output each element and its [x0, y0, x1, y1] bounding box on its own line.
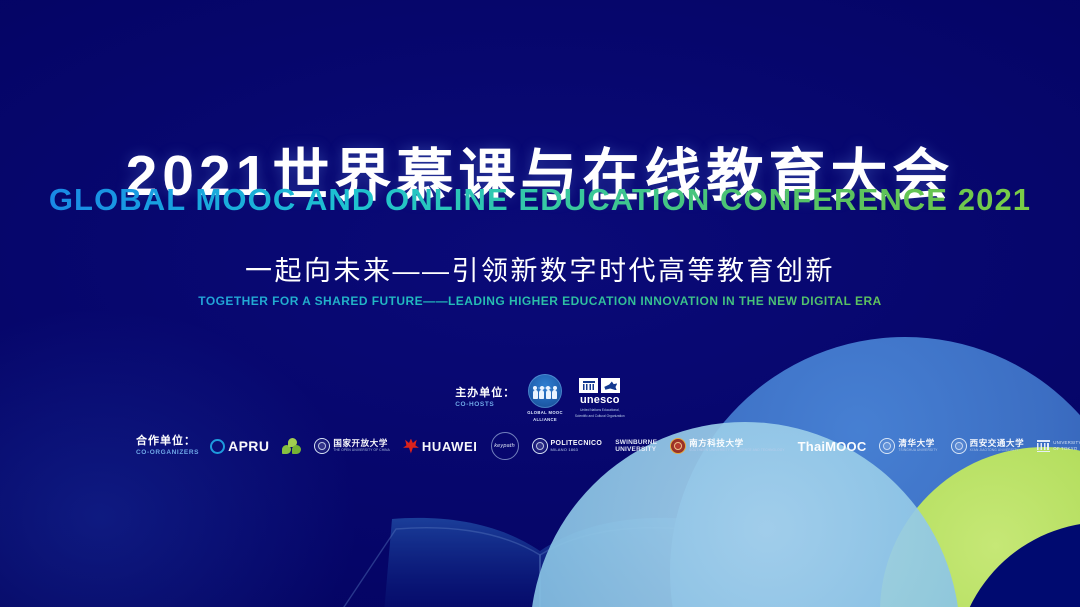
huawei-wordmark: HUAWEI — [422, 439, 478, 454]
green-clover-partner-logo — [282, 438, 301, 455]
politecnico-wordmark: POLITECNICO MILANO 1863 — [551, 440, 603, 453]
gma-wordmark-line2: ALLIANCE — [533, 417, 557, 422]
co-organizers-section: 合作单位： CO-ORGANIZERS APRU 国家开放大学 THE OPEN… — [136, 432, 960, 460]
institution-mark-1-text: UNIVERSITY OF TOKYO — [1053, 440, 1080, 451]
keypath-wordmark: keypath — [491, 432, 519, 460]
co-organizers-label-en: CO-ORGANIZERS — [136, 449, 199, 456]
apru-wordmark: APRU — [228, 438, 269, 454]
huawei-logo: HUAWEI — [403, 439, 478, 454]
co-organizers-label: 合作单位： CO-ORGANIZERS — [136, 436, 199, 456]
university-seal-cn-1-logo: 国家开放大学 THE OPEN UNIVERSITY OF CHINA — [314, 438, 390, 454]
university-seal-cn-3-logo: 西安交通大学 XI'AN JIAOTONG UNIVERSITY — [951, 438, 1025, 454]
unesco-tagline-line1: United Nations Educational, — [580, 408, 619, 412]
co-organizers-label-cn: 合作单位： — [136, 436, 199, 448]
thaimooc-wordmark: ThaiMOOC — [798, 439, 867, 454]
page-title-english: GLOBAL MOOC AND ONLINE EDUCATION CONFERE… — [0, 184, 1080, 215]
gma-wordmark-line1: GLOBAL MOOC — [527, 410, 563, 415]
university-seal-icon — [314, 438, 330, 454]
co-hosts-label: 主办单位： CO-HOSTS — [455, 388, 515, 408]
institution-mark-1-logo: UNIVERSITY OF TOKYO NATIONAL INSTITUTE — [1037, 439, 1080, 453]
thaimooc-logo: ThaiMOOC — [798, 439, 867, 454]
university-seal-icon — [951, 438, 967, 454]
apru-logo: APRU — [210, 438, 269, 454]
co-hosts-label-cn: 主办单位： — [455, 388, 515, 400]
unesco-tagline-line2: Scientific and Cultural Organization — [575, 414, 625, 418]
conference-poster: 2021世界慕课与在线教育大会 GLOBAL MOOC AND ONLINE E… — [0, 0, 1080, 607]
clover-icon — [282, 438, 301, 455]
university-seal-icon — [670, 438, 686, 454]
co-hosts-label-en: CO-HOSTS — [455, 401, 515, 408]
politecnico-seal-icon — [532, 438, 548, 454]
university-seal-cn-2-logo: 南方科技大学 SOUTHERN UNIVERSITY OF SCIENCE AN… — [670, 438, 785, 454]
huawei-flower-icon — [403, 439, 419, 454]
keypath-logo: keypath — [491, 432, 519, 460]
global-mooc-alliance-logo: GLOBAL GLOBAL MOOC ALLIANCE — [527, 374, 563, 423]
unesco-logo: unesco United Nations Educational, Scien… — [575, 378, 625, 418]
university-seal-cn-3-name: 西安交通大学 XI'AN JIAOTONG UNIVERSITY — [970, 439, 1025, 452]
tsinghua-university-logo: 清华大学 TSINGHUA UNIVERSITY — [879, 438, 937, 454]
university-seal-cn-2-name: 南方科技大学 SOUTHERN UNIVERSITY OF SCIENCE AN… — [689, 439, 785, 452]
politecnico-milano-logo: POLITECNICO MILANO 1863 — [532, 438, 603, 454]
page-subtitle: 一起向未来——引领新数字时代高等教育创新 — [0, 258, 1080, 285]
co-organizers-logo-list: APRU 国家开放大学 THE OPEN UNIVERSITY OF CHINA… — [210, 432, 1080, 460]
page-subtitle-english: TOGETHER FOR A SHARED FUTURE——LEADING HI… — [0, 295, 1080, 307]
institution-pillar-icon — [1037, 440, 1050, 452]
swinburne-wordmark: SWINBURNE UNIVERSITY — [615, 439, 657, 453]
university-seal-cn-1-name: 国家开放大学 THE OPEN UNIVERSITY OF CHINA — [333, 439, 390, 452]
global-mooc-alliance-badge-icon: GLOBAL — [528, 374, 562, 408]
tsinghua-name: 清华大学 TSINGHUA UNIVERSITY — [898, 439, 937, 452]
tsinghua-seal-icon — [879, 438, 895, 454]
unesco-emblem-icon — [579, 378, 620, 393]
unesco-wordmark: unesco — [580, 395, 620, 406]
co-hosts-section: 主办单位： CO-HOSTS GLOBAL GLOBAL MOOC ALLIAN… — [0, 374, 1080, 423]
people-icon — [533, 390, 558, 399]
apru-ring-icon — [210, 439, 225, 454]
swinburne-university-logo: SWINBURNE UNIVERSITY — [615, 439, 657, 453]
